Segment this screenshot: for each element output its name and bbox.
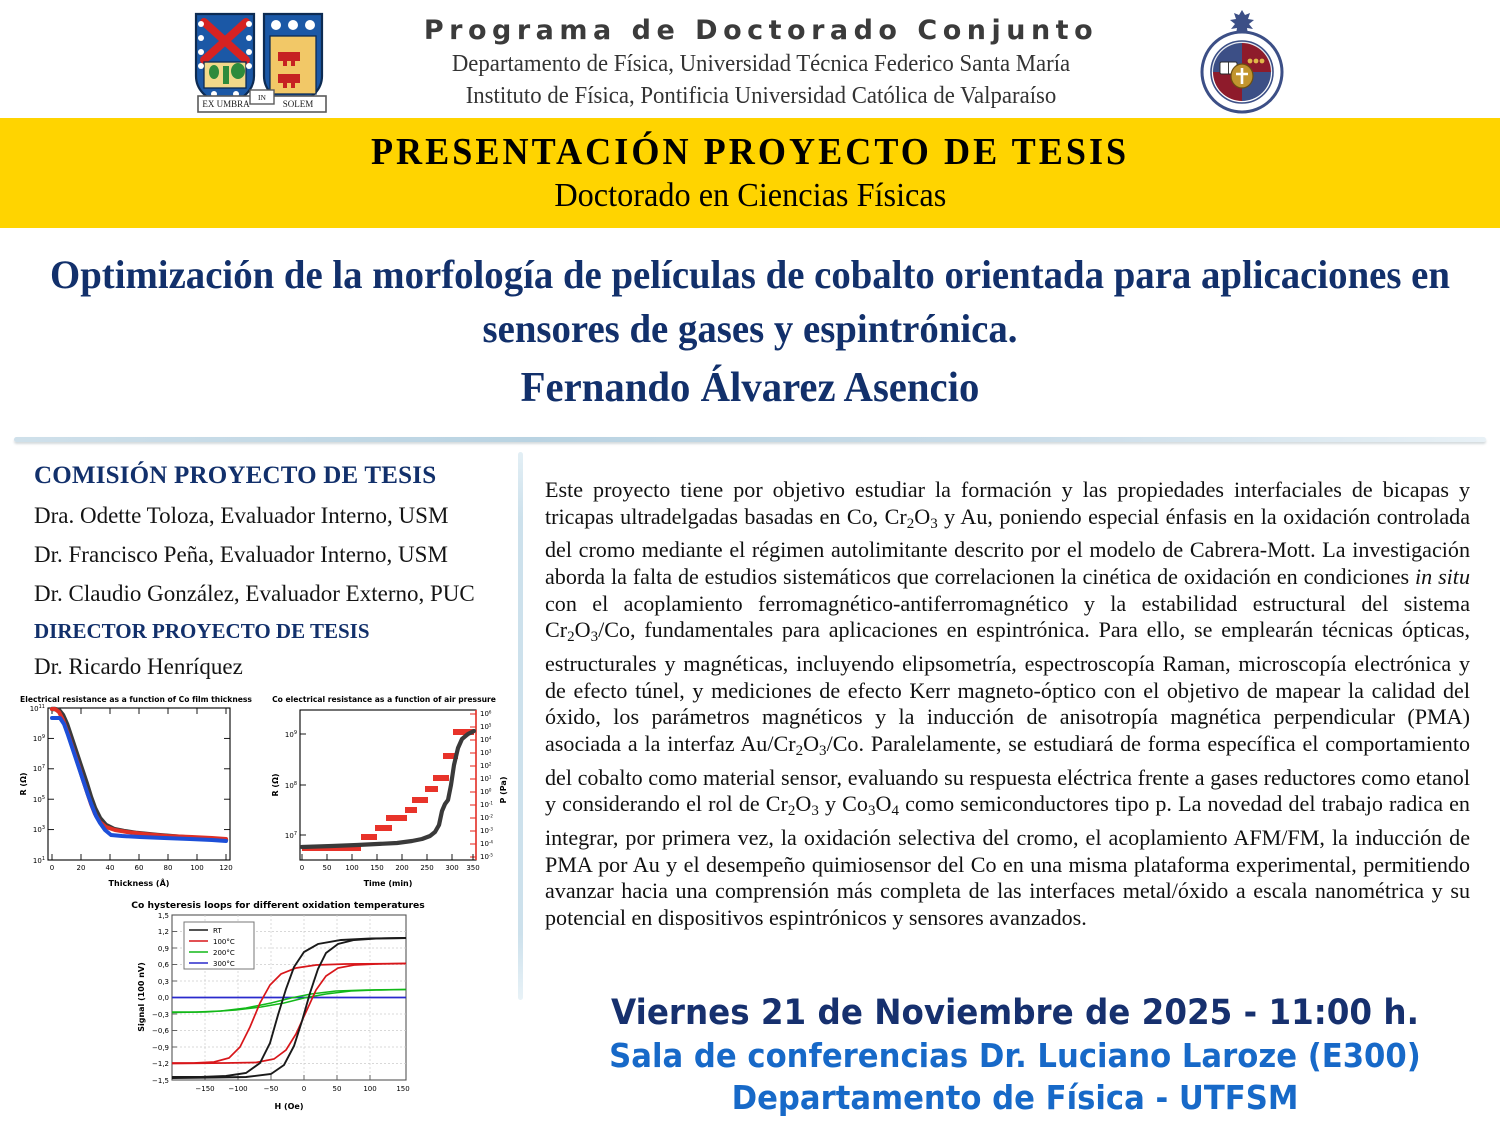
abstract-column: Este proyecto tiene por objetivo estudia… bbox=[545, 455, 1470, 954]
svg-text:−1,5: −1,5 bbox=[152, 1077, 169, 1085]
usm-coat-of-arms-logo: EX UMBRA IN SOLEM bbox=[188, 8, 336, 116]
svg-text:0,3: 0,3 bbox=[158, 978, 169, 986]
svg-text:200: 200 bbox=[395, 864, 408, 872]
svg-text:−0,9: −0,9 bbox=[152, 1044, 169, 1052]
svg-text:105: 105 bbox=[33, 795, 45, 804]
svg-text:−1,2: −1,2 bbox=[152, 1060, 169, 1068]
chart-b-xlabel: Time (min) bbox=[364, 879, 413, 888]
director-heading: DIRECTOR PROYECTO DE TESIS bbox=[34, 619, 518, 644]
event-date: Viernes 21 de Noviembre de 2025 - 11:00 … bbox=[578, 992, 1452, 1035]
svg-text:EX UMBRA: EX UMBRA bbox=[202, 99, 250, 109]
chart-b-title: Co electrical resistance as a function o… bbox=[272, 695, 496, 704]
svg-text:10-2: 10-2 bbox=[480, 814, 493, 822]
svg-text:0,6: 0,6 bbox=[158, 961, 170, 969]
svg-text:10-3: 10-3 bbox=[480, 827, 493, 835]
svg-text:101: 101 bbox=[480, 775, 492, 783]
svg-text:106: 106 bbox=[480, 710, 492, 718]
event-department: Departamento de Física - UTFSM bbox=[578, 1077, 1452, 1119]
svg-text:0,0: 0,0 bbox=[158, 994, 169, 1002]
svg-text:−150: −150 bbox=[195, 1085, 214, 1093]
svg-text:0,9: 0,9 bbox=[158, 945, 169, 953]
svg-text:50: 50 bbox=[323, 864, 332, 872]
chart-resistance-vs-airpressure: Co electrical resistance as a function o… bbox=[262, 690, 516, 895]
chart-c-legend-200c: 200°C bbox=[213, 949, 235, 957]
chart-c-title: Co hysteresis loops for different oxidat… bbox=[131, 900, 425, 911]
author-name: Fernando Álvarez Asencio bbox=[23, 360, 1478, 416]
svg-text:100: 100 bbox=[480, 788, 492, 796]
svg-text:1,2: 1,2 bbox=[158, 928, 169, 936]
svg-text:0: 0 bbox=[300, 864, 304, 872]
chart-b-ylabel: R (Ω) bbox=[271, 773, 280, 796]
svg-text:250: 250 bbox=[420, 864, 433, 872]
director-name: Dr. Ricardo Henríquez bbox=[34, 654, 518, 680]
title-block: Optimización de la morfología de películ… bbox=[0, 248, 1500, 416]
commission-member: Dr. Claudio González, Evaluador Externo,… bbox=[34, 581, 518, 607]
banner-subtitle: Doctorado en Ciencias Físicas bbox=[554, 176, 946, 216]
page-title: Optimización de la morfología de películ… bbox=[23, 248, 1478, 356]
presentation-banner: PRESENTACIÓN PROYECTO DE TESIS Doctorado… bbox=[0, 118, 1500, 228]
svg-text:109: 109 bbox=[33, 734, 45, 743]
chart-c-legend-rt: RT bbox=[213, 927, 222, 935]
svg-text:80: 80 bbox=[164, 864, 173, 872]
svg-text:SOLEM: SOLEM bbox=[283, 99, 314, 109]
svg-text:100: 100 bbox=[345, 864, 358, 872]
svg-text:−100: −100 bbox=[228, 1085, 247, 1093]
pucv-seal-logo: PONTIFICIA UNIVERSIDAD CATÓLICA DE VALPA… bbox=[1186, 6, 1298, 116]
svg-text:109: 109 bbox=[285, 730, 297, 739]
chart-b-y2label: P (Pa) bbox=[499, 776, 508, 803]
svg-text:105: 105 bbox=[480, 723, 492, 731]
svg-text:103: 103 bbox=[480, 749, 492, 757]
horizontal-divider bbox=[14, 437, 1486, 442]
svg-text:10-1: 10-1 bbox=[480, 801, 493, 809]
chart-a-ylabel: R (Ω) bbox=[19, 772, 28, 795]
department-line-pucv: Instituto de Física, Pontificia Universi… bbox=[366, 80, 1157, 112]
svg-text:10-5: 10-5 bbox=[480, 853, 493, 861]
svg-text:100: 100 bbox=[190, 864, 203, 872]
svg-text:1011: 1011 bbox=[30, 704, 45, 713]
chart-c-legend-300c: 300°C bbox=[213, 960, 235, 968]
svg-text:−0,6: −0,6 bbox=[152, 1027, 170, 1035]
svg-text:1,5: 1,5 bbox=[158, 912, 169, 920]
svg-text:107: 107 bbox=[285, 831, 297, 840]
svg-text:10-4: 10-4 bbox=[480, 840, 493, 848]
chart-c-xlabel: H (Oe) bbox=[274, 1102, 303, 1111]
venue-block: Viernes 21 de Noviembre de 2025 - 11:00 … bbox=[545, 992, 1485, 1119]
chart-a-title: Electrical resistance as a function of C… bbox=[20, 695, 252, 704]
svg-text:101: 101 bbox=[33, 856, 45, 865]
banner-title: PRESENTACIÓN PROYECTO DE TESIS bbox=[371, 130, 1129, 174]
svg-text:150: 150 bbox=[396, 1085, 409, 1093]
abstract-paragraph: Este proyecto tiene por objetivo estudia… bbox=[545, 477, 1470, 931]
svg-text:300: 300 bbox=[445, 864, 458, 872]
svg-text:40: 40 bbox=[106, 864, 115, 872]
commission-member: Dr. Francisco Peña, Evaluador Interno, U… bbox=[34, 542, 518, 568]
commission-heading: COMISIÓN PROYECTO DE TESIS bbox=[34, 462, 518, 490]
svg-text:0: 0 bbox=[50, 864, 54, 872]
svg-text:−0,3: −0,3 bbox=[152, 1011, 169, 1019]
svg-text:108: 108 bbox=[285, 781, 297, 790]
svg-text:−50: −50 bbox=[264, 1085, 279, 1093]
program-title: Programa de Doctorado Conjunto bbox=[336, 14, 1186, 48]
svg-text:20: 20 bbox=[77, 864, 86, 872]
event-room: Sala de conferencias Dr. Luciano Laroze … bbox=[578, 1035, 1452, 1077]
svg-text:104: 104 bbox=[480, 736, 492, 744]
chart-a-xlabel: Thickness (Å) bbox=[109, 878, 170, 888]
svg-text:107: 107 bbox=[33, 764, 45, 773]
commission-member: Dra. Odette Toloza, Evaluador Interno, U… bbox=[34, 503, 518, 529]
figures-group: Electrical resistance as a function of C… bbox=[0, 690, 518, 1125]
svg-text:0: 0 bbox=[302, 1085, 306, 1093]
chart-c-legend-100c: 100°C bbox=[213, 938, 235, 946]
svg-text:IN: IN bbox=[258, 93, 266, 102]
header-text-group: Programa de Doctorado Conjunto Departame… bbox=[336, 14, 1186, 112]
department-line-usm: Departamento de Física, Universidad Técn… bbox=[366, 48, 1157, 80]
chart-co-hysteresis-loops: Co hysteresis loops for different oxidat… bbox=[126, 895, 426, 1123]
chart-c-ylabel: Signal (100 nV) bbox=[137, 962, 146, 1032]
svg-text:350: 350 bbox=[466, 864, 479, 872]
svg-text:100: 100 bbox=[363, 1085, 376, 1093]
svg-text:60: 60 bbox=[135, 864, 144, 872]
vertical-divider bbox=[518, 452, 523, 1000]
page-header: EX UMBRA IN SOLEM Programa de Doctorado … bbox=[0, 0, 1500, 118]
svg-text:50: 50 bbox=[333, 1085, 342, 1093]
chart-c-legend: RT 100°C 200°C 300°C bbox=[184, 922, 254, 969]
svg-text:102: 102 bbox=[480, 762, 492, 770]
svg-text:150: 150 bbox=[370, 864, 383, 872]
svg-text:103: 103 bbox=[33, 825, 45, 834]
chart-resistance-vs-thickness: Electrical resistance as a function of C… bbox=[12, 690, 260, 895]
svg-text:120: 120 bbox=[219, 864, 232, 872]
